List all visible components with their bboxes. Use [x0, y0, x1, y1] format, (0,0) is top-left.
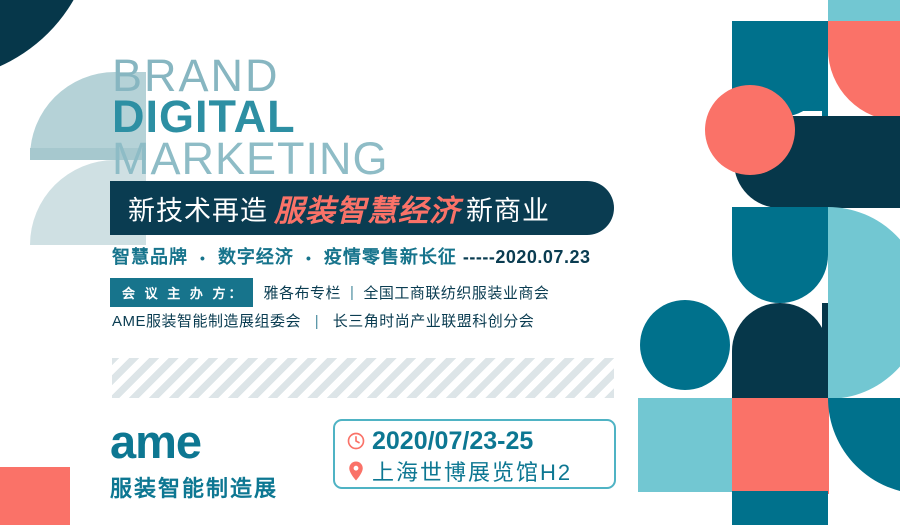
clock-icon	[345, 432, 367, 450]
subtitle-topic-1: 智慧品牌	[112, 247, 188, 267]
headline-line-brand: BRAND	[112, 55, 389, 96]
poster-canvas: BRAND DIGITAL MARKETING 新技术再造 服装智慧经济 新商业…	[0, 0, 900, 525]
ame-logo: ame 服装智能制造展	[110, 418, 278, 503]
right-top-lightteal-strip-shape	[828, 0, 900, 22]
subtitle-topic-2: 数字经济	[218, 247, 294, 267]
headline-block: BRAND DIGITAL MARKETING	[112, 55, 389, 179]
right-coral-halfdisc-shape	[828, 21, 900, 121]
organizer-row1-item1: 雅各布专栏	[263, 282, 341, 303]
ame-tagline: 服装智能制造展	[110, 471, 278, 503]
bullet-dot-icon: •	[200, 250, 206, 266]
right-teal-small-circle-shape	[640, 300, 730, 390]
event-venue-name: 上海世博展览馆H2	[372, 455, 572, 487]
event-details-box: 2020/07/23-25 上海世博展览馆H2	[333, 419, 616, 489]
right-edge-teal-line-bottom-shape	[822, 494, 828, 525]
right-coral-circle-shape	[705, 85, 795, 175]
event-date-range: 2020/07/23-25	[372, 427, 533, 456]
location-pin-icon	[345, 461, 367, 481]
organizer-divider-1: |	[350, 284, 354, 301]
subtitle-date: 2020.07.23	[495, 247, 590, 267]
slogan-suffix: 新商业	[466, 189, 550, 228]
slogan-accent: 服装智慧经济	[274, 186, 460, 230]
right-coral-square-shape	[732, 398, 828, 492]
bullet-dot-icon-2: •	[306, 250, 312, 266]
ame-wordmark: ame	[110, 418, 278, 465]
right-teal-bottom-strip-shape	[732, 491, 828, 525]
organizer-row-1: 会 议 主 办 方： 雅各布专栏 | 全国工商联纺织服装业商会	[110, 278, 549, 307]
slogan-banner: 新技术再造 服装智慧经济 新商业	[110, 181, 614, 235]
right-navy-quarter-shape	[732, 303, 828, 399]
content-column: BRAND DIGITAL MARKETING 新技术再造 服装智慧经济 新商业…	[0, 0, 640, 525]
subtitle-dashes: -----	[463, 247, 495, 267]
organizer-row-2: AME服装智能制造展组委会 | 长三角时尚产业联盟科创分会	[112, 310, 534, 331]
right-lightteal-halfdisc-shape	[828, 207, 900, 399]
hatched-divider-band	[112, 358, 614, 398]
subtitle-topics: 智慧品牌 • 数字经济 • 疫情零售新长征 -----2020.07.23	[112, 243, 590, 269]
organizer-row2-item2: 长三角时尚产业联盟科创分会	[333, 313, 535, 330]
event-date-line: 2020/07/23-25	[345, 426, 614, 456]
headline-line-marketing: MARKETING	[112, 138, 389, 179]
organizer-row1-item2: 全国工商联纺织服装业商会	[363, 282, 549, 303]
slogan-prefix: 新技术再造	[128, 189, 268, 228]
right-navy-band-square-shape	[828, 116, 900, 208]
right-edge-teal-line-top-shape	[822, 21, 828, 117]
subtitle-topic-3: 疫情零售新长征	[324, 247, 457, 267]
right-teal-quarter-bottom-shape	[828, 398, 900, 494]
organizer-badge: 会 议 主 办 方：	[110, 278, 253, 307]
event-venue-line: 上海世博展览馆H2	[345, 456, 614, 486]
right-teal-middisc-shape	[732, 207, 828, 303]
headline-line-digital: DIGITAL	[112, 96, 389, 137]
right-lightteal-square-shape	[638, 398, 732, 492]
organizer-divider-2: |	[315, 313, 319, 330]
organizer-row2-item1: AME服装智能制造展组委会	[112, 313, 301, 330]
